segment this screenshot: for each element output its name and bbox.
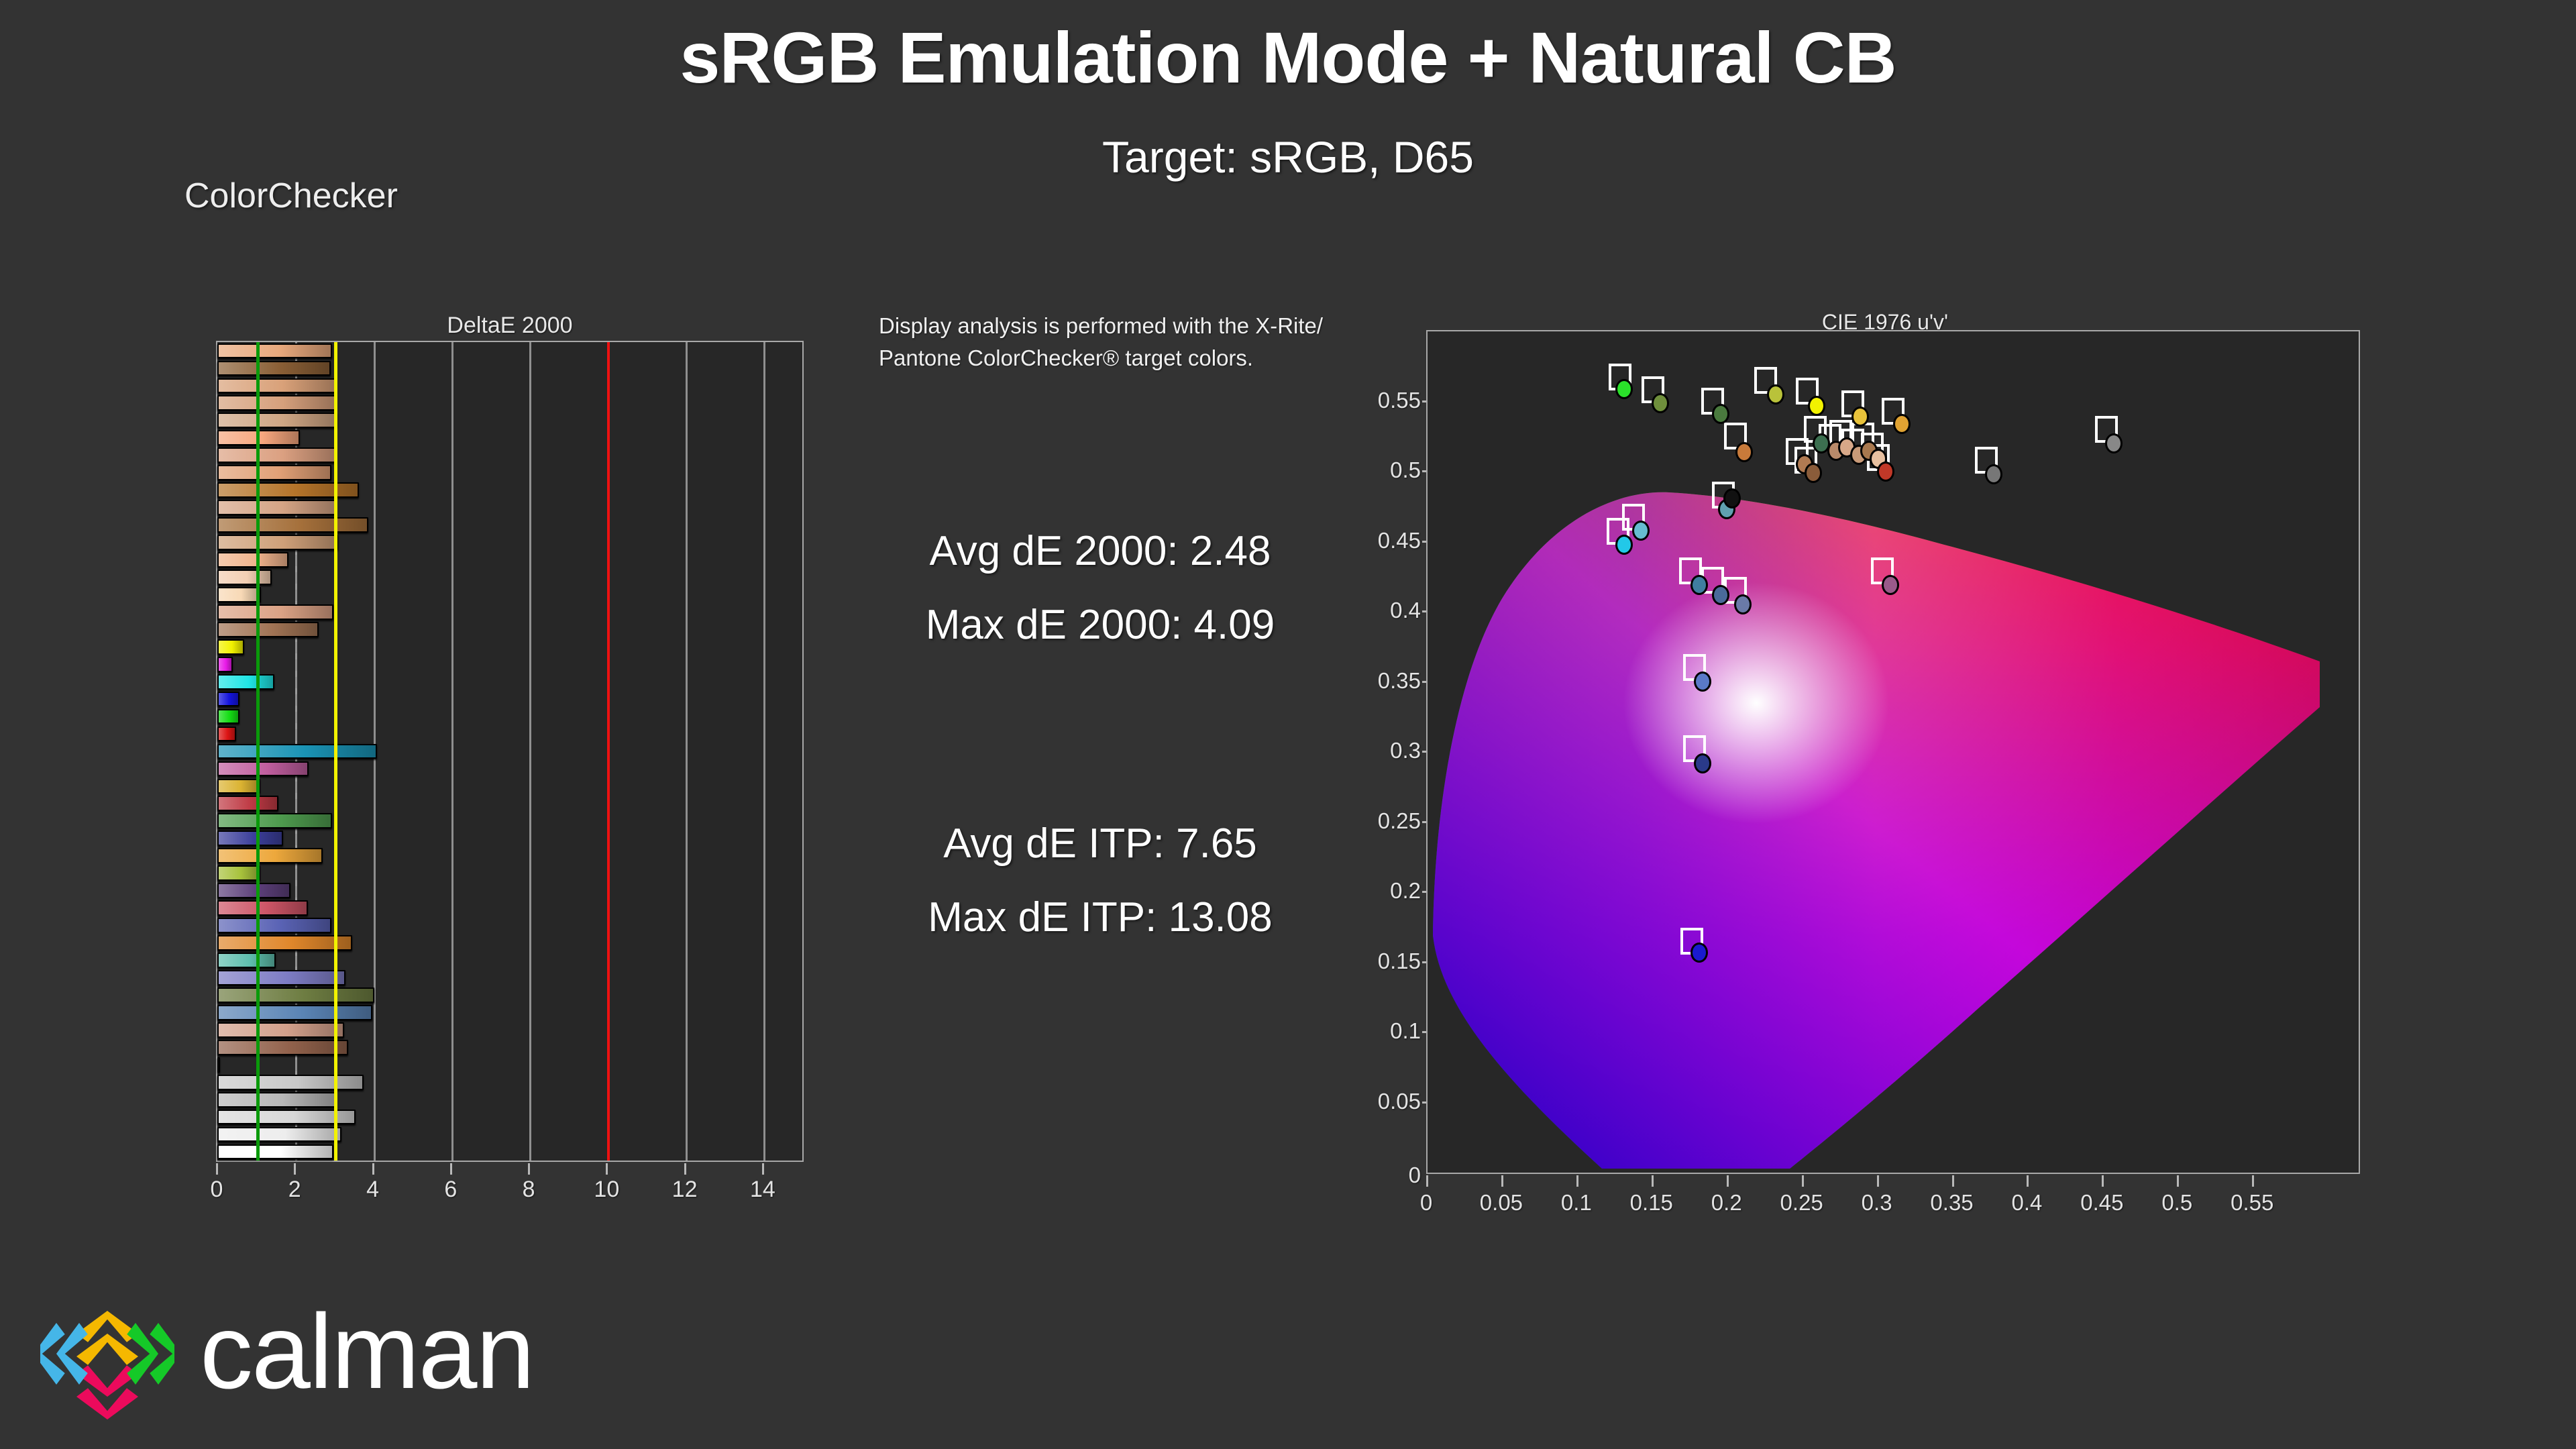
deltae-bar (217, 900, 308, 916)
cie-y-tick-label: 0.2 (1390, 878, 1421, 904)
deltae-bar (217, 970, 345, 985)
deltae-bar-fill (217, 1022, 344, 1038)
deltae-bar-fill (217, 970, 345, 985)
cie-measured-marker (1735, 442, 1753, 462)
cie-y-tick-label: 0.45 (1378, 528, 1421, 553)
deltae-bar (217, 865, 260, 881)
deltae-bar (217, 447, 337, 463)
cie-chromaticity-chart (1426, 330, 2360, 1174)
deltae-bar (217, 500, 336, 515)
deltae-bar (217, 727, 236, 742)
cie-y-tick-label: 0.15 (1378, 949, 1421, 974)
deltae-bar-fill (217, 1057, 220, 1073)
deltae-bar-fill (217, 622, 319, 637)
spectral-locus-fill (1428, 331, 2359, 1173)
cie-y-tick-label: 0.4 (1390, 598, 1421, 623)
deltae-bar-fill (217, 465, 331, 480)
deltae-bar-fill (217, 517, 368, 533)
deltae-bar (217, 709, 239, 724)
deltae-bar (217, 517, 368, 533)
cie-x-tick-label: 0.25 (1780, 1190, 1823, 1216)
deltae-bar-fill (217, 587, 261, 602)
deltae-bar-fill (217, 378, 337, 394)
cie-y-tick-label: 0.05 (1378, 1089, 1421, 1114)
deltae-bar (217, 848, 323, 863)
deltae-bar-fill (217, 865, 260, 881)
calman-diamond-icon (40, 1287, 174, 1421)
gridline-8 (529, 342, 531, 1161)
report-canvas: sRGB Emulation Mode + Natural CB Target:… (0, 0, 2576, 1449)
deltae-bar (217, 935, 352, 951)
deltae-bar (217, 883, 290, 898)
cie-x-tick (2252, 1175, 2254, 1187)
deltae-bar-fill (217, 709, 239, 724)
deltae-bar-fill (217, 796, 278, 811)
deltae-bar (217, 761, 309, 777)
deltae-bar (217, 674, 274, 690)
deltae-bar (217, 395, 337, 411)
deltae-bar-fill (217, 395, 337, 411)
x-tick-label: 8 (523, 1177, 535, 1203)
cie-measured-marker (1882, 575, 1899, 595)
deltae-bar-fill (217, 883, 290, 898)
cie-x-tick-label: 0.1 (1561, 1190, 1592, 1216)
deltae-bar-fill (217, 848, 323, 863)
x-tick-label: 4 (366, 1177, 379, 1203)
deltae-bar (217, 1092, 335, 1108)
cie-measured-marker (1652, 393, 1669, 413)
deltae-bar (217, 343, 332, 359)
colorchecker-label: ColorChecker (184, 176, 398, 216)
deltae-bar (217, 465, 331, 480)
deltae-bar-fill (217, 830, 283, 846)
deltae-bar-fill (217, 1092, 335, 1108)
green-threshold (256, 342, 260, 1161)
deltae-bar (217, 692, 239, 707)
deltae-bar (217, 1075, 364, 1090)
cie-x-tick (2027, 1175, 2029, 1187)
x-tick (294, 1163, 296, 1175)
deltae-bar-fill (217, 1127, 341, 1142)
cie-measured-marker (1808, 396, 1825, 416)
deltae-bar-fill (217, 900, 308, 916)
cie-gamut-svg (1428, 331, 2359, 1173)
deltae-bar (217, 570, 272, 585)
x-tick (216, 1163, 218, 1175)
deltae-bar (217, 413, 337, 428)
yellow-threshold (334, 342, 337, 1161)
cie-x-tick-label: 0.35 (1930, 1190, 1973, 1216)
deltae-bar (217, 1144, 333, 1160)
deltae-bar (217, 552, 288, 568)
deltae-bar (217, 587, 261, 602)
deltae-bar (217, 639, 244, 655)
cie-x-tick-label: 0 (1420, 1190, 1432, 1216)
analysis-note: Display analysis is performed with the X… (879, 310, 1348, 374)
x-tick-label: 2 (288, 1177, 301, 1203)
deltae-bar-fill (217, 604, 333, 620)
cie-x-tick-label: 0.5 (2161, 1190, 2192, 1216)
cie-x-tick (1652, 1175, 1654, 1187)
deltae-bar (217, 1127, 341, 1142)
x-tick-label: 6 (444, 1177, 457, 1203)
cie-x-tick (2102, 1175, 2104, 1187)
bar-gap-tick (295, 723, 297, 729)
deltae-bar (217, 1057, 219, 1073)
deltae-bar-fill (217, 361, 331, 376)
cie-x-tick (1877, 1175, 1879, 1187)
analysis-note-line1: Display analysis is performed with the X… (879, 310, 1348, 342)
deltae-bar-fill (217, 727, 236, 742)
x-tick (372, 1163, 374, 1175)
gridline-12 (686, 342, 688, 1161)
deltae-bar-fill (217, 953, 276, 968)
cie-measured-marker (1615, 379, 1633, 399)
deltae-bar-fill (217, 744, 377, 759)
red-threshold (607, 342, 610, 1161)
cie-measured-marker (1712, 404, 1729, 424)
calman-wordmark: calman (200, 1299, 533, 1405)
cie-measured-marker (1690, 943, 1708, 963)
deltae-bar (217, 987, 374, 1003)
x-tick (606, 1163, 608, 1175)
bar-gap-tick (295, 671, 297, 677)
analysis-note-line2: Pantone ColorChecker® target colors. (879, 342, 1348, 374)
bar-gap-tick (295, 706, 297, 712)
cie-measured-marker (1985, 464, 2002, 484)
cie-x-tick (2177, 1175, 2179, 1187)
x-tick-label: 10 (594, 1177, 619, 1203)
deltae-bar-fill (217, 692, 239, 707)
x-tick (762, 1163, 764, 1175)
deltae-bar-fill (217, 761, 309, 777)
deltae-bar-fill (217, 639, 244, 655)
cie-measured-marker (2105, 433, 2123, 453)
calman-logo: calman (40, 1287, 664, 1431)
deltae-bar-fill (217, 343, 332, 359)
deltae-bar (217, 622, 319, 637)
cie-x-tick-label: 0.2 (1711, 1190, 1742, 1216)
deltae-bar-fill (217, 935, 352, 951)
cie-measured-marker (1632, 521, 1650, 541)
cie-x-axis: 00.050.10.150.20.250.30.350.40.450.50.55 (1426, 1175, 2365, 1229)
bar-gap-tick (295, 688, 297, 694)
deltae-bar-fill (217, 1075, 364, 1090)
deltae-bar-fill (217, 500, 336, 515)
deltae-bar-fill (217, 779, 260, 794)
page-title: sRGB Emulation Mode + Natural CB (0, 16, 2576, 99)
deltae-bar (217, 744, 377, 759)
deltae-bar (217, 1005, 372, 1020)
cie-measured-marker (1615, 535, 1633, 555)
cie-y-tick-label: 0.35 (1378, 668, 1421, 694)
deltae-bar (217, 830, 283, 846)
deltae-bar-chart (216, 341, 804, 1162)
cie-y-tick-label: 0.25 (1378, 808, 1421, 834)
cie-x-tick (1952, 1175, 1954, 1187)
deltae-bar-fill (217, 413, 337, 428)
deltae-bar-fill (217, 1005, 372, 1020)
cie-x-tick (1576, 1175, 1578, 1187)
cie-x-tick (1501, 1175, 1503, 1187)
cie-x-tick-label: 0.3 (1862, 1190, 1892, 1216)
x-tick (450, 1163, 452, 1175)
bar-gap-tick (295, 880, 297, 886)
x-tick (528, 1163, 530, 1175)
deltae-bar-fill (217, 657, 233, 672)
cie-measured-marker (1712, 585, 1729, 605)
bar-gap-tick (295, 653, 297, 659)
deltae-bar (217, 361, 331, 376)
cie-measured-marker (1723, 488, 1741, 508)
cie-x-tick-label: 0.4 (2012, 1190, 2043, 1216)
deltae-bar (217, 796, 278, 811)
cie-y-axis: 0.050.10.150.20.250.30.350.40.450.50.550 (1315, 0, 1426, 1449)
deltae-bar (217, 1040, 348, 1055)
cie-y-tick-label: 0.5 (1390, 458, 1421, 483)
deltae-bar-fill (217, 674, 274, 690)
x-tick-label: 14 (750, 1177, 775, 1203)
cie-y-tick-label: 0.3 (1390, 738, 1421, 763)
x-tick-label: 0 (211, 1177, 223, 1203)
deltae-bar (217, 378, 337, 394)
x-tick (684, 1163, 686, 1175)
cie-x-tick (1426, 1175, 1428, 1187)
cie-x-tick (1802, 1175, 1804, 1187)
deltae-bar-fill (217, 1040, 348, 1055)
cie-y-tick-label: 0 (1409, 1163, 1421, 1188)
deltae-bar-fill (217, 447, 337, 463)
deltae-chart-title: DeltaE 2000 (216, 313, 804, 339)
deltae-bar-fill (217, 813, 332, 828)
deltae-bar-fill (217, 552, 288, 568)
deltae-bar (217, 813, 332, 828)
bar-gap-tick (295, 566, 297, 572)
page-subtitle: Target: sRGB, D65 (0, 131, 2576, 182)
deltae-bar (217, 604, 333, 620)
cie-measured-marker (1851, 407, 1869, 427)
cie-x-tick-label: 0.45 (2080, 1190, 2123, 1216)
cie-x-tick-label: 0.55 (2231, 1190, 2273, 1216)
cie-measured-marker (1877, 462, 1894, 482)
deltae-bar-fill (217, 987, 374, 1003)
deltae-x-axis: 02468101214 (216, 1163, 806, 1210)
cie-measured-marker (1694, 753, 1711, 773)
deltae-bar-fill (217, 1144, 333, 1160)
cie-x-tick (1727, 1175, 1729, 1187)
gridline-14 (763, 342, 765, 1161)
cie-y-tick-label: 0.1 (1390, 1018, 1421, 1044)
cie-x-tick-label: 0.15 (1630, 1190, 1673, 1216)
deltae-bar (217, 953, 276, 968)
cie-x-tick-label: 0.05 (1480, 1190, 1523, 1216)
x-tick-label: 12 (672, 1177, 698, 1203)
deltae-bar-fill (217, 570, 272, 585)
deltae-bar (217, 657, 233, 672)
cie-measured-marker (1694, 672, 1711, 692)
deltae-bar (217, 535, 338, 550)
deltae-bar (217, 779, 260, 794)
cie-y-tick-label: 0.55 (1378, 388, 1421, 413)
deltae-bar-fill (217, 918, 331, 933)
bar-gap-tick (295, 793, 297, 799)
deltae-bar-fill (217, 535, 338, 550)
gridline-6 (451, 342, 453, 1161)
deltae-bar (217, 918, 331, 933)
deltae-bar (217, 1022, 344, 1038)
bar-gap-tick (295, 584, 297, 590)
